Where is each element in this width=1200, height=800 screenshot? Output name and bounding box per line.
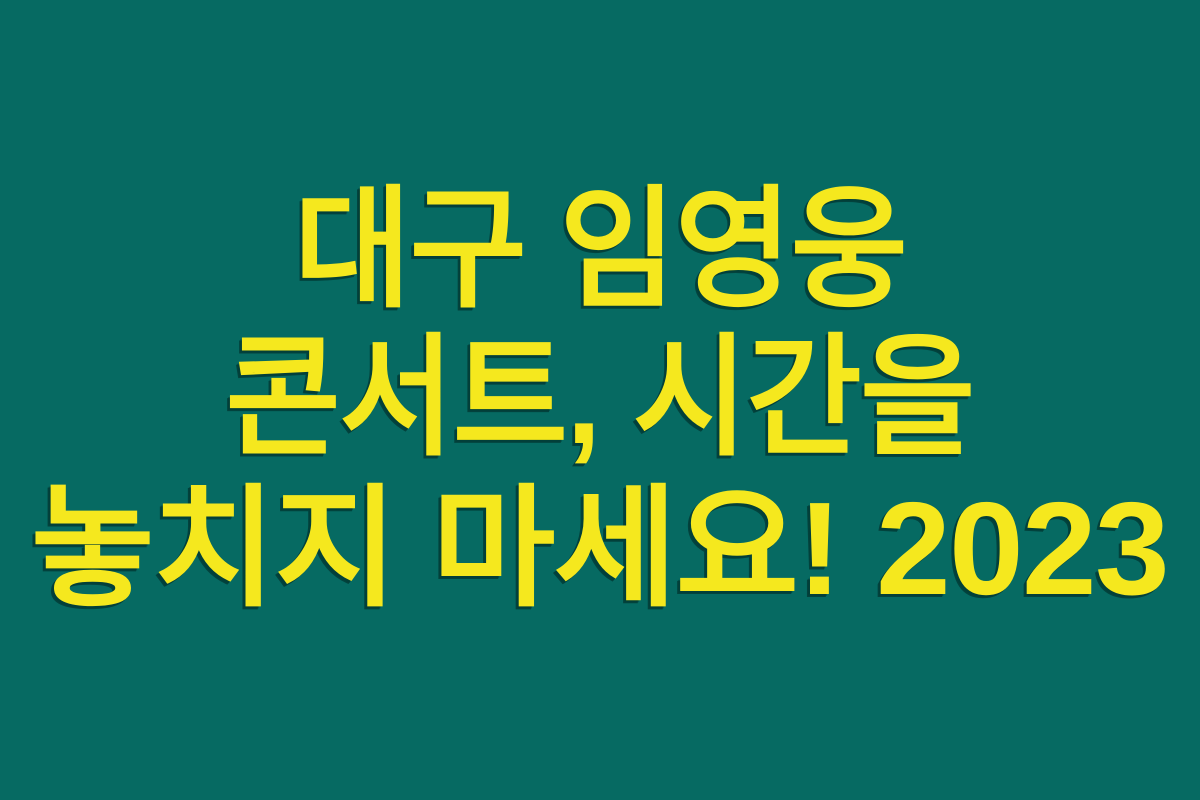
headline-line-3: 놓치지 마세요! 2023 [31, 484, 1168, 614]
banner-canvas: 대구 임영웅 콘서트, 시간을 놓치지 마세요! 2023 [0, 0, 1200, 800]
headline-line-2: 콘서트, 시간을 [226, 334, 974, 462]
headline-block: 대구 임영웅 콘서트, 시간을 놓치지 마세요! 2023 [0, 186, 1200, 614]
headline-line-1: 대구 임영웅 [294, 186, 906, 314]
